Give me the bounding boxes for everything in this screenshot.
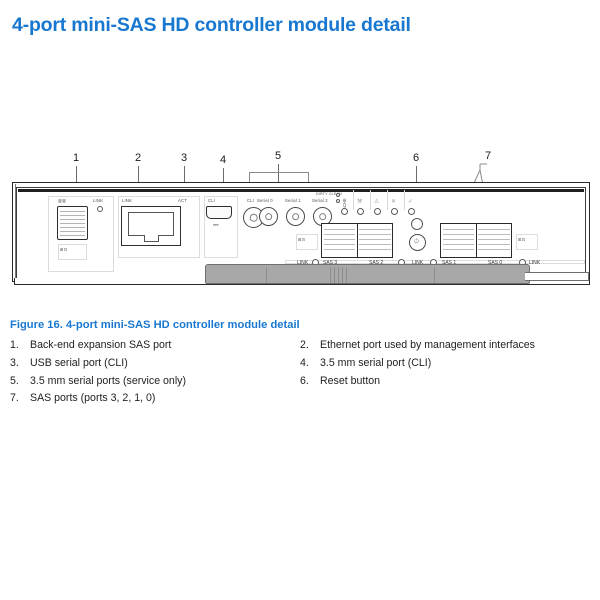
- legend-row: 1. Back-end expansion SAS port 2. Ethern…: [10, 338, 590, 352]
- legend-item-3: 3. USB serial port (CLI): [10, 356, 300, 370]
- sas-marking-right-icon: ⊞⊡: [518, 237, 525, 242]
- sas-port-block-1-0[interactable]: [440, 223, 512, 258]
- legend-index-5: 5.: [10, 374, 30, 388]
- legend-index-1: 1.: [10, 338, 30, 352]
- dirty-led: [336, 193, 340, 197]
- legend-index-3: 3.: [10, 356, 30, 370]
- figure-diagram: 1 2 3 4 5 6 7 ▥▥ LINK ⊞⊡ LINK ACT: [0, 150, 600, 310]
- legend-index-empty: [300, 391, 320, 405]
- chassis-top-rail: [18, 189, 584, 192]
- ethernet-act-label: ACT: [178, 198, 187, 203]
- ejector-handle[interactable]: [205, 264, 530, 284]
- legend-row: 5. 3.5 mm serial ports (service only) 6.…: [10, 374, 590, 388]
- indicator-divider-4: [404, 190, 405, 210]
- figure-legend: 1. Back-end expansion SAS port 2. Ethern…: [10, 338, 590, 409]
- callout-number-3: 3: [177, 152, 191, 164]
- legend-item-6: 6. Reset button: [300, 374, 590, 388]
- serial-1-label: Serial 1: [285, 198, 301, 203]
- reset-indicator-led: [411, 218, 423, 230]
- ethernet-link-label: LINK: [122, 198, 132, 203]
- legend-text-7: SAS ports (ports 3, 2, 1, 0): [30, 391, 300, 405]
- sas-port-2[interactable]: [358, 224, 393, 257]
- figure-caption: Figure 16. 4-port mini-SAS HD controller…: [10, 319, 300, 331]
- link-label-3: LINK: [529, 260, 540, 266]
- sas-port-block-3-2[interactable]: [321, 223, 393, 258]
- legend-item-7: 7. SAS ports (ports 3, 2, 1, 0): [10, 391, 300, 405]
- usb-cli-label: CLI: [208, 198, 215, 203]
- usb-icon: ⎓: [213, 222, 219, 230]
- legend-text-6: Reset button: [320, 374, 590, 388]
- legend-item-2: 2. Ethernet port used by management inte…: [300, 338, 590, 352]
- expansion-port-icon: ▥▥: [58, 198, 66, 203]
- sas-marking-left-icon: ⊞⊡: [298, 237, 305, 242]
- legend-item-5: 5. 3.5 mm serial ports (service only): [10, 374, 300, 388]
- legend-item-empty: [300, 391, 590, 405]
- ethernet-management-port[interactable]: [121, 206, 181, 246]
- fault-icon: ⚠: [374, 199, 379, 205]
- legend-text-empty: [320, 391, 590, 405]
- callout-number-5: 5: [271, 150, 285, 162]
- indicator-divider-3: [387, 190, 388, 210]
- legend-item-1: 1. Back-end expansion SAS port: [10, 338, 300, 352]
- service-required-led: [357, 208, 364, 215]
- sas-port-3[interactable]: [322, 224, 358, 257]
- legend-row: 3. USB serial port (CLI) 4. 3.5 mm seria…: [10, 356, 590, 370]
- indicator-divider-1: [353, 190, 354, 210]
- service-required-icon: ⚒: [357, 199, 362, 205]
- serial-0-label: Serial 0: [257, 198, 273, 203]
- cache-led: [341, 208, 348, 215]
- sas-port-0[interactable]: [477, 224, 512, 257]
- callout-number-6: 6: [409, 152, 423, 164]
- ok-check-icon: ✓: [408, 199, 413, 205]
- legend-text-4: 3.5 mm serial port (CLI): [320, 356, 590, 370]
- legend-text-3: USB serial port (CLI): [30, 356, 300, 370]
- legend-item-4: 4. 3.5 mm serial port (CLI): [300, 356, 590, 370]
- legend-index-6: 6.: [300, 374, 320, 388]
- expansion-port-marking-text: ⊞⊡: [60, 247, 67, 252]
- usb-serial-port[interactable]: [206, 206, 232, 219]
- serial-2-label: Serial 2: [312, 198, 328, 203]
- legend-row: 7. SAS ports (ports 3, 2, 1, 0): [10, 391, 590, 405]
- fault-cross-icon: ✕: [391, 199, 396, 205]
- back-end-expansion-sas-port[interactable]: [57, 206, 88, 240]
- legend-index-4: 4.: [300, 356, 320, 370]
- legend-index-2: 2.: [300, 338, 320, 352]
- power-icon: ⏻: [414, 239, 419, 246]
- ejector-handle-tail: [525, 272, 589, 281]
- legend-text-2: Ethernet port used by management interfa…: [320, 338, 590, 352]
- legend-text-1: Back-end expansion SAS port: [30, 338, 300, 352]
- serial-cli-label: CLI: [247, 198, 254, 203]
- callout-number-1: 1: [69, 152, 83, 164]
- serial-port-0[interactable]: [259, 207, 278, 226]
- legend-index-7: 7.: [10, 391, 30, 405]
- sas-port-1[interactable]: [441, 224, 477, 257]
- page-title: 4-port mini-SAS HD controller module det…: [12, 14, 411, 37]
- ok-check-led: [408, 208, 415, 215]
- indicator-divider-2: [370, 190, 371, 210]
- clean-led: [336, 199, 340, 203]
- legend-text-5: 3.5 mm serial ports (service only): [30, 374, 300, 388]
- fault-led: [374, 208, 381, 215]
- callout-number-4: 4: [216, 154, 230, 166]
- expansion-link-label: LINK: [93, 198, 103, 203]
- serial-port-1[interactable]: [286, 207, 305, 226]
- fault-cross-led: [391, 208, 398, 215]
- callout-number-2: 2: [131, 152, 145, 164]
- expansion-link-led: [97, 206, 103, 212]
